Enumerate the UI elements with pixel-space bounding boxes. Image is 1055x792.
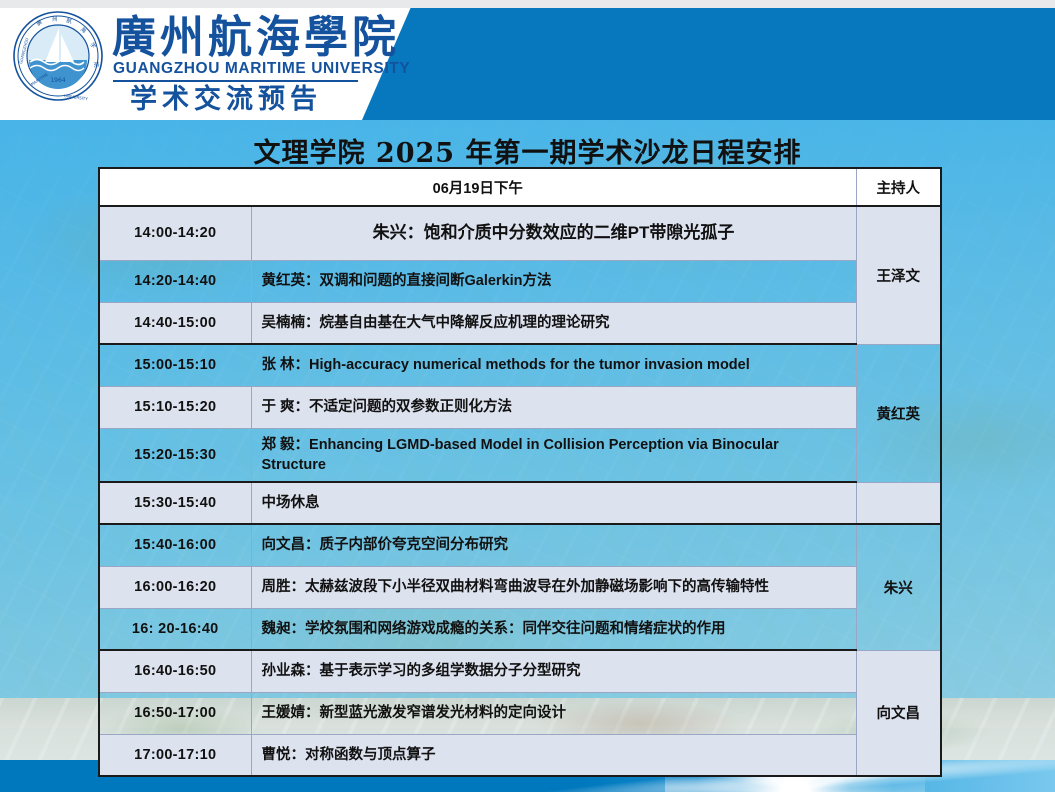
row-topic: 吴楠楠：烷基自由基在大气中降解反应机理的理论研究: [251, 302, 856, 344]
row-time: 15:30-15:40: [99, 482, 251, 524]
university-seal-sailboat-icon: 1964 廣 州 航 海 学 院 GUANGZHOU MARITIME UNIV…: [12, 10, 104, 102]
row-host: 朱兴: [856, 524, 941, 650]
university-name-cn: 廣州航海學院: [112, 12, 400, 64]
header-subtitle: 学术交流预告: [130, 83, 322, 117]
row-topic: 中场休息: [251, 482, 856, 524]
row-time: 15:40-16:00: [99, 524, 251, 566]
row-topic: 黄红英：双调和问题的直接间断Galerkin方法: [251, 260, 856, 302]
row-topic: 向文昌：质子内部价夸克空间分布研究: [251, 524, 856, 566]
row-host: [856, 482, 941, 524]
row-topic: 王媛婧：新型蓝光激发窄谱发光材料的定向设计: [251, 692, 856, 734]
row-topic: 郑 毅：Enhancing LGMD-based Model in Collis…: [251, 428, 856, 482]
table-row: 14:40-15:00 吴楠楠：烷基自由基在大气中降解反应机理的理论研究: [99, 302, 941, 344]
table-header-row: 06月19日下午 主持人: [99, 168, 941, 206]
table-row: 16: 20-16:40 魏昶：学校氛围和网络游戏成瘾的关系：同伴交往问题和情绪…: [99, 608, 941, 650]
university-name-en: GUANGZHOU MARITIME UNIVERSITY: [113, 60, 410, 78]
row-time: 14:20-14:40: [99, 260, 251, 302]
row-time: 17:00-17:10: [99, 734, 251, 776]
row-time: 14:40-15:00: [99, 302, 251, 344]
row-time: 15:20-15:30: [99, 428, 251, 482]
table-row: 16:50-17:00 王媛婧：新型蓝光激发窄谱发光材料的定向设计: [99, 692, 941, 734]
header-divider-rule: [113, 80, 358, 82]
table-row: 14:00-14:20 朱兴：饱和介质中分数效应的二维PT带隙光孤子 王泽文: [99, 206, 941, 260]
row-host: 王泽文: [856, 206, 941, 344]
table-row: 14:20-14:40 黄红英：双调和问题的直接间断Galerkin方法: [99, 260, 941, 302]
row-time: 16:50-17:00: [99, 692, 251, 734]
row-topic: 曹悦：对称函数与顶点算子: [251, 734, 856, 776]
table-row: 16:00-16:20 周胜：太赫兹波段下小半径双曲材料弯曲波导在外加静磁场影响…: [99, 566, 941, 608]
row-time: 16:00-16:20: [99, 566, 251, 608]
table-row-break: 15:30-15:40 中场休息: [99, 482, 941, 524]
row-time: 15:00-15:10: [99, 344, 251, 386]
svg-text:1964: 1964: [50, 77, 65, 84]
schedule-table-wrapper: 06月19日下午 主持人 14:00-14:20 朱兴：饱和介质中分数效应的二维…: [98, 167, 940, 777]
row-time: 16: 20-16:40: [99, 608, 251, 650]
table-row: 17:00-17:10 曹悦：对称函数与顶点算子: [99, 734, 941, 776]
table-row: 15:10-15:20 于 爽：不适定问题的双参数正则化方法: [99, 386, 941, 428]
schedule-table: 06月19日下午 主持人 14:00-14:20 朱兴：饱和介质中分数效应的二维…: [98, 167, 942, 777]
page-header: 1964 廣 州 航 海 学 院 GUANGZHOU MARITIME UNIV…: [0, 0, 1055, 120]
table-row: 16:40-16:50 孙业森：基于表示学习的多组学数据分子分型研究 向文昌: [99, 650, 941, 692]
row-topic: 孙业森：基于表示学习的多组学数据分子分型研究: [251, 650, 856, 692]
page-title: 文理学院 2025 年第一期学术沙龙日程安排: [0, 131, 1055, 170]
row-topic: 魏昶：学校氛围和网络游戏成瘾的关系：同伴交往问题和情绪症状的作用: [251, 608, 856, 650]
header-top-strip: [0, 0, 1055, 8]
row-time: 16:40-16:50: [99, 650, 251, 692]
table-row: 15:20-15:30 郑 毅：Enhancing LGMD-based Mod…: [99, 428, 941, 482]
table-row: 15:40-16:00 向文昌：质子内部价夸克空间分布研究 朱兴: [99, 524, 941, 566]
svg-text:UNIVERSITY: UNIVERSITY: [64, 93, 89, 101]
column-header-host: 主持人: [856, 168, 941, 206]
row-topic: 周胜：太赫兹波段下小半径双曲材料弯曲波导在外加静磁场影响下的高传输特性: [251, 566, 856, 608]
row-time: 14:00-14:20: [99, 206, 251, 260]
table-row: 15:00-15:10 张 林：High-accuracy numerical …: [99, 344, 941, 386]
row-topic: 张 林：High-accuracy numerical methods for …: [251, 344, 856, 386]
row-host: 黄红英: [856, 344, 941, 482]
row-time: 15:10-15:20: [99, 386, 251, 428]
column-header-session: 06月19日下午: [99, 168, 856, 206]
slide-page: 1964 廣 州 航 海 学 院 GUANGZHOU MARITIME UNIV…: [0, 0, 1055, 792]
svg-text:州: 州: [52, 17, 58, 23]
row-topic: 朱兴：饱和介质中分数效应的二维PT带隙光孤子: [251, 206, 856, 260]
row-topic: 于 爽：不适定问题的双参数正则化方法: [251, 386, 856, 428]
row-host: 向文昌: [856, 650, 941, 776]
